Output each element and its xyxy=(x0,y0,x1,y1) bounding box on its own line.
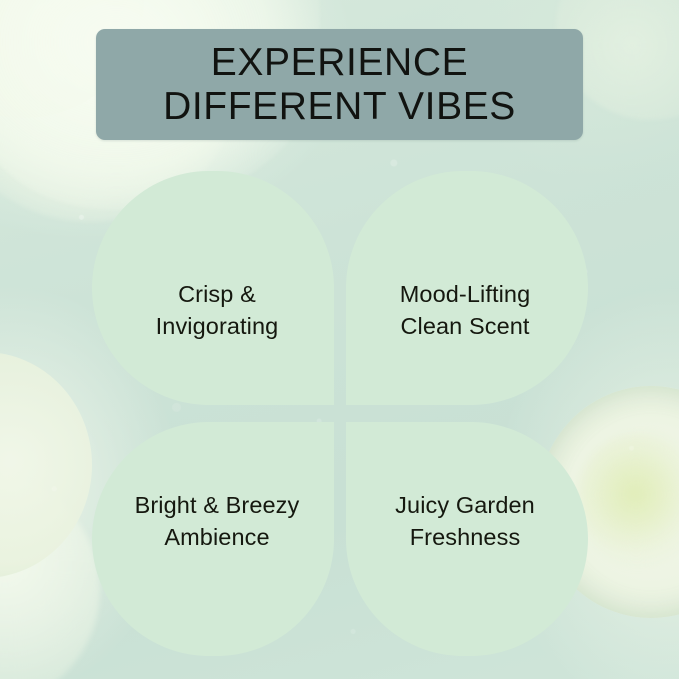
petal-caption-top-right: Mood-Lifting Clean Scent xyxy=(390,278,541,343)
page-title: EXPERIENCE DIFFERENT VIBES xyxy=(163,41,516,128)
cucumber-slice-bottom-left-icon xyxy=(0,352,92,578)
petal-caption-bottom-left: Bright & Breezy Ambience xyxy=(125,489,310,554)
vibes-petal-group: Crisp & Invigorating Mood-Lifting Clean … xyxy=(92,171,588,656)
header-banner: EXPERIENCE DIFFERENT VIBES xyxy=(96,29,583,140)
petal-caption-top-left: Crisp & Invigorating xyxy=(146,278,289,343)
cucumber-seed-core-icon xyxy=(578,432,679,568)
petal-card-top-right: Mood-Lifting Clean Scent xyxy=(346,171,588,405)
infographic-canvas: EXPERIENCE DIFFERENT VIBES Crisp & Invig… xyxy=(0,0,679,679)
petal-card-bottom-right: Juicy Garden Freshness xyxy=(346,422,588,656)
cucumber-slice-bottom-left-glow xyxy=(0,470,100,679)
petal-card-bottom-left: Bright & Breezy Ambience xyxy=(92,422,334,656)
petal-card-top-left: Crisp & Invigorating xyxy=(92,171,334,405)
petal-caption-bottom-right: Juicy Garden Freshness xyxy=(385,489,545,554)
